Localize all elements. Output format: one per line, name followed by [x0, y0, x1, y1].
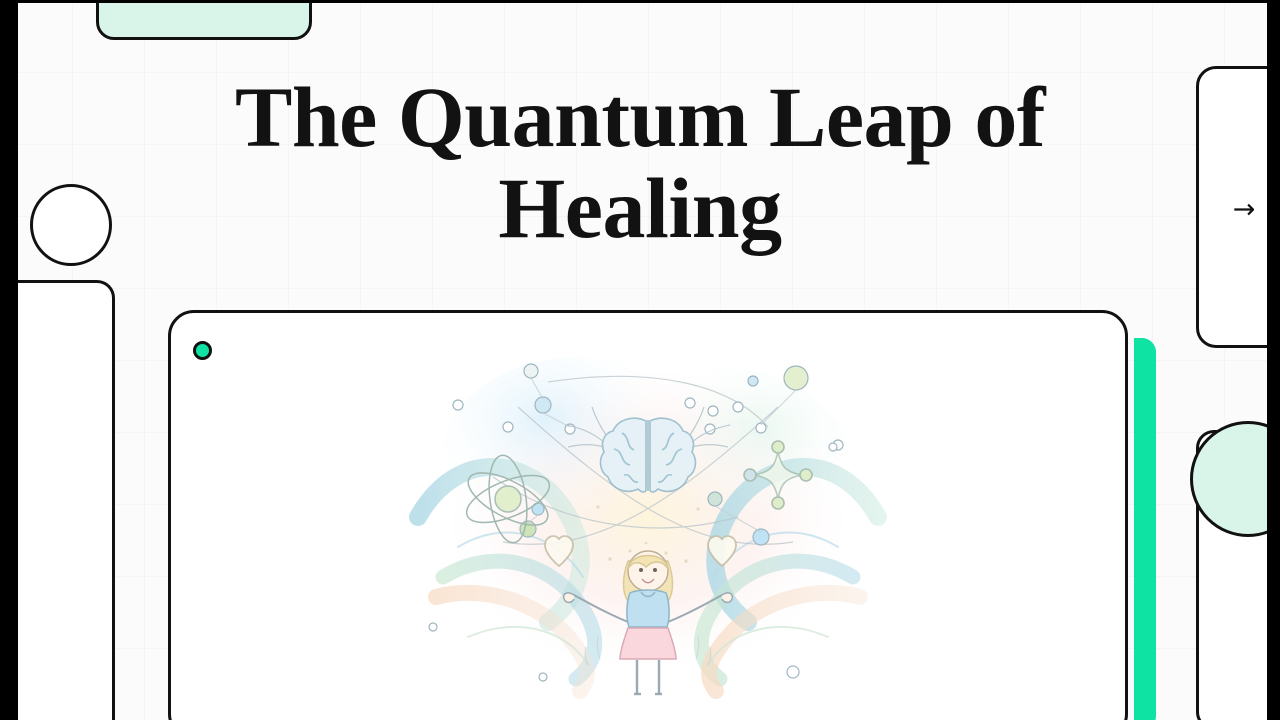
page-title: The Quantum Leap of Healing [190, 72, 1090, 254]
frame-bar-top [0, 0, 1280, 3]
quantum-healing-illustration [398, 347, 898, 720]
title-line-2: Healing [190, 163, 1090, 254]
status-dot [193, 341, 212, 360]
title-line-1: The Quantum Leap of [190, 72, 1090, 163]
mint-tab-shape [96, 0, 312, 40]
left-circle-shape [30, 184, 112, 266]
teal-card-edge [1134, 338, 1156, 720]
slide-canvas: → The Quantum Leap of Healing [0, 0, 1280, 720]
frame-bar-right [1267, 0, 1280, 720]
frame-bar-left [0, 0, 18, 720]
content-card [168, 310, 1128, 720]
arrow-right-icon: → [1227, 195, 1261, 223]
